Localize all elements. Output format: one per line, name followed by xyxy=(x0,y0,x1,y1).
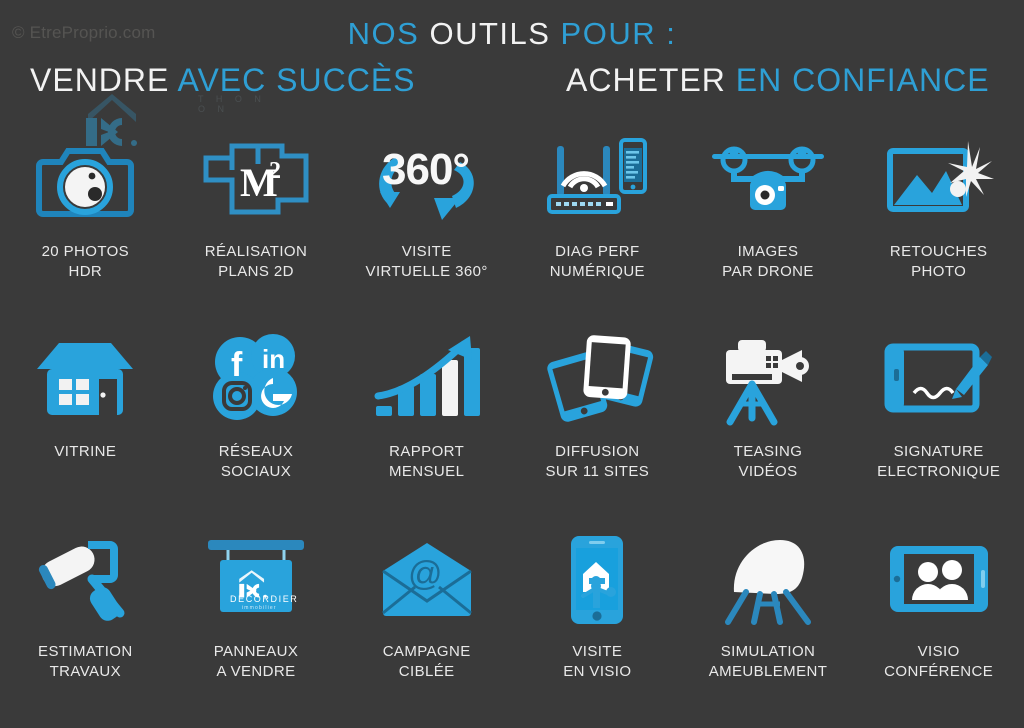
floorplan-m2-icon: M 2 xyxy=(191,132,321,228)
tool-label-line1: CAMPAGNE xyxy=(383,643,471,660)
sign-subbrand-text: immobilier xyxy=(242,605,277,611)
tool-label: PANNEAUX A VENDRE xyxy=(214,642,299,682)
tool-label: RETOUCHES PHOTO xyxy=(890,242,988,282)
camera-icon xyxy=(20,132,150,228)
tool-label-line1: VITRINE xyxy=(54,443,116,460)
tablet-people-icon xyxy=(874,532,1004,628)
tool-label-line2: PLANS 2D xyxy=(205,262,307,282)
tool-label-line1: DIFFUSION xyxy=(555,443,639,460)
subtitle-acheter-word: ACHETER xyxy=(566,62,726,98)
tool-label-line1: VISIO xyxy=(918,643,960,660)
tool-item-visio-conference[interactable]: VISIO CONFÉRENCE xyxy=(853,532,1024,728)
tool-item-retouches-photo[interactable]: RETOUCHES PHOTO xyxy=(853,132,1024,332)
subtitle-row: VENDRE AVEC SUCCÈS ACHETER EN CONFIANCE xyxy=(0,62,1024,102)
tool-label: VISIO CONFÉRENCE xyxy=(884,642,993,682)
tool-label: VISITE EN VISIO xyxy=(563,642,631,682)
tool-label: RAPPORT MENSUEL xyxy=(389,442,464,482)
drone-icon xyxy=(703,132,833,228)
tool-label-line2: AMEUBLEMENT xyxy=(709,662,828,682)
growth-chart-icon xyxy=(362,332,492,428)
tool-label-line2: CIBLÉE xyxy=(383,662,471,682)
tool-label-line1: PANNEAUX xyxy=(214,643,299,660)
tool-item-panneaux-a-vendre[interactable]: DECORDIER immobilier PANNEAUX A VENDRE xyxy=(171,532,342,728)
chair-icon xyxy=(703,532,833,628)
tool-item-diffusion-sur-11-sites[interactable]: DIFFUSION SUR 11 SITES xyxy=(512,332,683,532)
tool-item-teasing-videos[interactable]: TEASING VIDÉOS xyxy=(683,332,854,532)
tool-label-line2: EN VISIO xyxy=(563,662,631,682)
tool-label-line1: RETOUCHES xyxy=(890,243,988,260)
hanging-sign-icon: DECORDIER immobilier xyxy=(191,532,321,628)
signature-tablet-icon xyxy=(874,332,1004,428)
router-wifi-icon xyxy=(532,132,662,228)
tool-label-line2: VIRTUELLE 360° xyxy=(366,262,488,282)
tool-label-line1: RÉALISATION xyxy=(205,243,307,260)
tool-item-estimation-travaux[interactable]: ESTIMATION TRAVAUX xyxy=(0,532,171,728)
tool-label-line1: RÉSEAUX xyxy=(219,443,294,460)
tool-label-line1: VISITE xyxy=(402,243,452,260)
tool-label-line2: A VENDRE xyxy=(214,662,299,682)
360-rotation-icon: 360° xyxy=(362,132,492,228)
google-icon xyxy=(249,368,297,416)
tool-label: IMAGES PAR DRONE xyxy=(722,242,814,282)
poster-canvas: © EtreProprio.com T H O N O N NOS OUTILS… xyxy=(0,0,1024,728)
subtitle-avec-succes: AVEC SUCCÈS xyxy=(177,62,415,98)
subtitle-vendre-word: VENDRE xyxy=(30,62,169,98)
tool-label-line2: VIDÉOS xyxy=(734,462,803,482)
title-part-pour: POUR : xyxy=(561,16,677,51)
tool-label-line2: TRAVAUX xyxy=(38,662,133,682)
tool-label-line2: NUMÉRIQUE xyxy=(550,262,645,282)
tool-label: VITRINE xyxy=(54,442,116,462)
rotation-360-text: 360° xyxy=(382,145,469,194)
envelope-at-text: @ xyxy=(408,555,443,593)
tool-label: SIGNATURE ELECTRONIQUE xyxy=(877,442,1000,482)
tool-label-line2: SOCIAUX xyxy=(219,462,294,482)
tool-label-line2: SUR 11 SITES xyxy=(545,462,649,482)
tool-label-line1: ESTIMATION xyxy=(38,643,133,660)
svg-text:f: f xyxy=(231,346,243,384)
envelope-at-icon: @ xyxy=(362,532,492,628)
paint-roller-icon xyxy=(20,532,150,628)
tool-label: TEASING VIDÉOS xyxy=(734,442,803,482)
tool-item-visite-en-visio[interactable]: VISITE EN VISIO xyxy=(512,532,683,728)
tool-label-line1: TEASING xyxy=(734,443,803,460)
tool-label-line2: ELECTRONIQUE xyxy=(877,462,1000,482)
tool-label-line1: DIAG PERF xyxy=(555,243,639,260)
svg-text:in: in xyxy=(262,344,285,374)
tool-item-signature-electronique[interactable]: SIGNATURE ELECTRONIQUE xyxy=(853,332,1024,532)
tool-label: VISITE VIRTUELLE 360° xyxy=(366,242,488,282)
phone-visit-icon xyxy=(532,532,662,628)
page-title: NOS OUTILS POUR : xyxy=(0,16,1024,52)
tool-label-line2: MENSUEL xyxy=(389,462,464,482)
subtitle-en-confiance: EN CONFIANCE xyxy=(736,62,990,98)
tool-item-campagne-ciblee[interactable]: @ CAMPAGNE CIBLÉE xyxy=(341,532,512,728)
shop-house-icon xyxy=(20,332,150,428)
tablets-icon xyxy=(532,332,662,428)
subtitle-acheter: ACHETER EN CONFIANCE xyxy=(566,62,990,99)
tool-label-line2: PAR DRONE xyxy=(722,262,814,282)
tool-item-diag-perf-numerique[interactable]: DIAG PERF NUMÉRIQUE xyxy=(512,132,683,332)
tool-label: RÉALISATION PLANS 2D xyxy=(205,242,307,282)
tool-label-line2: HDR xyxy=(42,262,130,282)
tool-label: DIAG PERF NUMÉRIQUE xyxy=(550,242,645,282)
tool-item-rapport-mensuel[interactable]: RAPPORT MENSUEL xyxy=(341,332,512,532)
social-networks-icon: f in xyxy=(191,332,321,428)
tool-item-simulation-ameublement[interactable]: SIMULATION AMEUBLEMENT xyxy=(683,532,854,728)
tool-item-visite-virtuelle-360[interactable]: 360° VISITE VIRTUELLE 360° xyxy=(341,132,512,332)
tool-label-line1: IMAGES xyxy=(738,243,799,260)
tool-label-line1: SIGNATURE xyxy=(894,443,984,460)
tool-item-realisation-plans-2d[interactable]: M 2 RÉALISATION PLANS 2D xyxy=(171,132,342,332)
tools-grid: 20 PHOTOS HDR M 2 RÉALISATION PLANS 2D xyxy=(0,132,1024,712)
tool-item-reseaux-sociaux[interactable]: f in RÉSEAUX SOCIAUX xyxy=(171,332,342,532)
tool-label-line2: CONFÉRENCE xyxy=(884,662,993,682)
tool-label-line1: VISITE xyxy=(572,643,622,660)
tool-label-line1: SIMULATION xyxy=(721,643,816,660)
tool-label: DIFFUSION SUR 11 SITES xyxy=(545,442,649,482)
tool-label: SIMULATION AMEUBLEMENT xyxy=(709,642,828,682)
tool-label: 20 PHOTOS HDR xyxy=(42,242,130,282)
subtitle-vendre: VENDRE AVEC SUCCÈS xyxy=(30,62,416,99)
tool-label: CAMPAGNE CIBLÉE xyxy=(383,642,471,682)
video-camera-icon xyxy=(703,332,833,428)
tool-item-vitrine[interactable]: VITRINE xyxy=(0,332,171,532)
sign-brand-text: DECORDIER xyxy=(230,594,298,604)
tool-label-line1: 20 PHOTOS xyxy=(42,243,130,260)
tool-label: RÉSEAUX SOCIAUX xyxy=(219,442,294,482)
tool-item-images-par-drone[interactable]: IMAGES PAR DRONE xyxy=(683,132,854,332)
floorplan-exponent-text: 2 xyxy=(269,158,281,184)
tool-label: ESTIMATION TRAVAUX xyxy=(38,642,133,682)
photo-retouch-icon xyxy=(874,132,1004,228)
title-part-outils: OUTILS xyxy=(429,16,550,51)
tool-item-20-photos-hdr[interactable]: 20 PHOTOS HDR xyxy=(0,132,171,332)
tool-label-line2: PHOTO xyxy=(890,262,988,282)
title-part-nos: NOS xyxy=(348,16,420,51)
tool-label-line1: RAPPORT xyxy=(389,443,464,460)
